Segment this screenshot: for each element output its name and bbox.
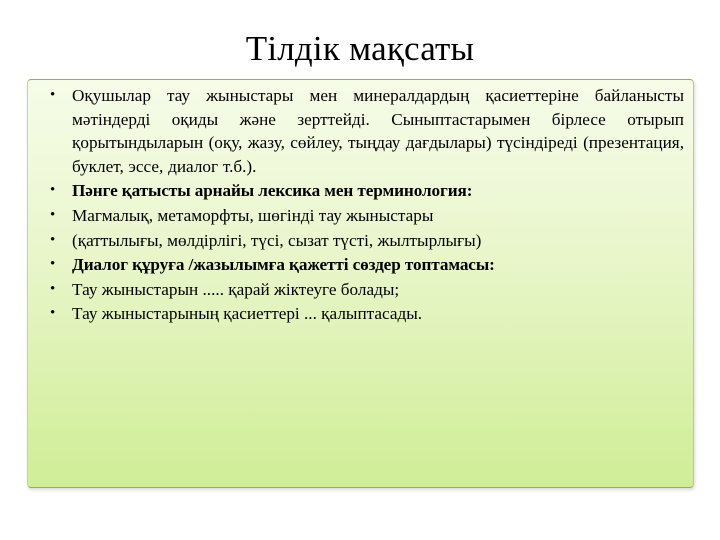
list-item-label: (қаттылығы, мөлдірлігі, түсі, сызат түст… bbox=[72, 231, 481, 250]
page-title: Тілдік мақсаты bbox=[0, 28, 720, 70]
bullet-icon: • bbox=[50, 179, 62, 203]
bullet-icon: • bbox=[50, 278, 62, 302]
bullet-icon: • bbox=[50, 229, 62, 253]
list-item[interactable]: • Тау жыныстарын ..... қарай жіктеуге бо… bbox=[33, 278, 684, 302]
bullet-list: • Оқушылар тау жыныстары мен минералдард… bbox=[33, 84, 684, 326]
list-item-label: Тау жыныстарын ..... қарай жіктеуге бола… bbox=[72, 280, 399, 299]
list-item-label: Пәнге қатысты арнайы лексика мен термино… bbox=[72, 181, 472, 200]
content-body-placeholder[interactable]: • Оқушылар тау жыныстары мен минералдард… bbox=[27, 79, 694, 488]
list-item[interactable]: • Диалог құруға /жазылымға қажетті сөзде… bbox=[33, 253, 684, 277]
list-item[interactable]: • Магмалық, метаморфты, шөгінді тау жыны… bbox=[33, 204, 684, 228]
list-item-label: Магмалық, метаморфты, шөгінді тау жыныст… bbox=[72, 206, 433, 225]
list-item[interactable]: • Оқушылар тау жыныстары мен минералдард… bbox=[33, 84, 684, 178]
list-item[interactable]: • (қаттылығы, мөлдірлігі, түсі, сызат тү… bbox=[33, 229, 684, 253]
list-item-label: Оқушылар тау жыныстары мен минералдардың… bbox=[72, 84, 684, 178]
bullet-icon: • bbox=[50, 84, 62, 108]
list-item[interactable]: • Тау жыныстарының қасиеттері ... қалыпт… bbox=[33, 302, 684, 326]
list-item-label: Диалог құруға /жазылымға қажетті сөздер … bbox=[72, 255, 495, 274]
bullet-icon: • bbox=[50, 253, 62, 277]
bullet-icon: • bbox=[50, 204, 62, 228]
bullet-icon: • bbox=[50, 302, 62, 326]
slide: Тілдік мақсаты • Оқушылар тау жыныстары … bbox=[0, 0, 720, 540]
list-item-label: Тау жыныстарының қасиеттері ... қалыптас… bbox=[72, 304, 422, 323]
list-item[interactable]: • Пәнге қатысты арнайы лексика мен терми… bbox=[33, 179, 684, 203]
